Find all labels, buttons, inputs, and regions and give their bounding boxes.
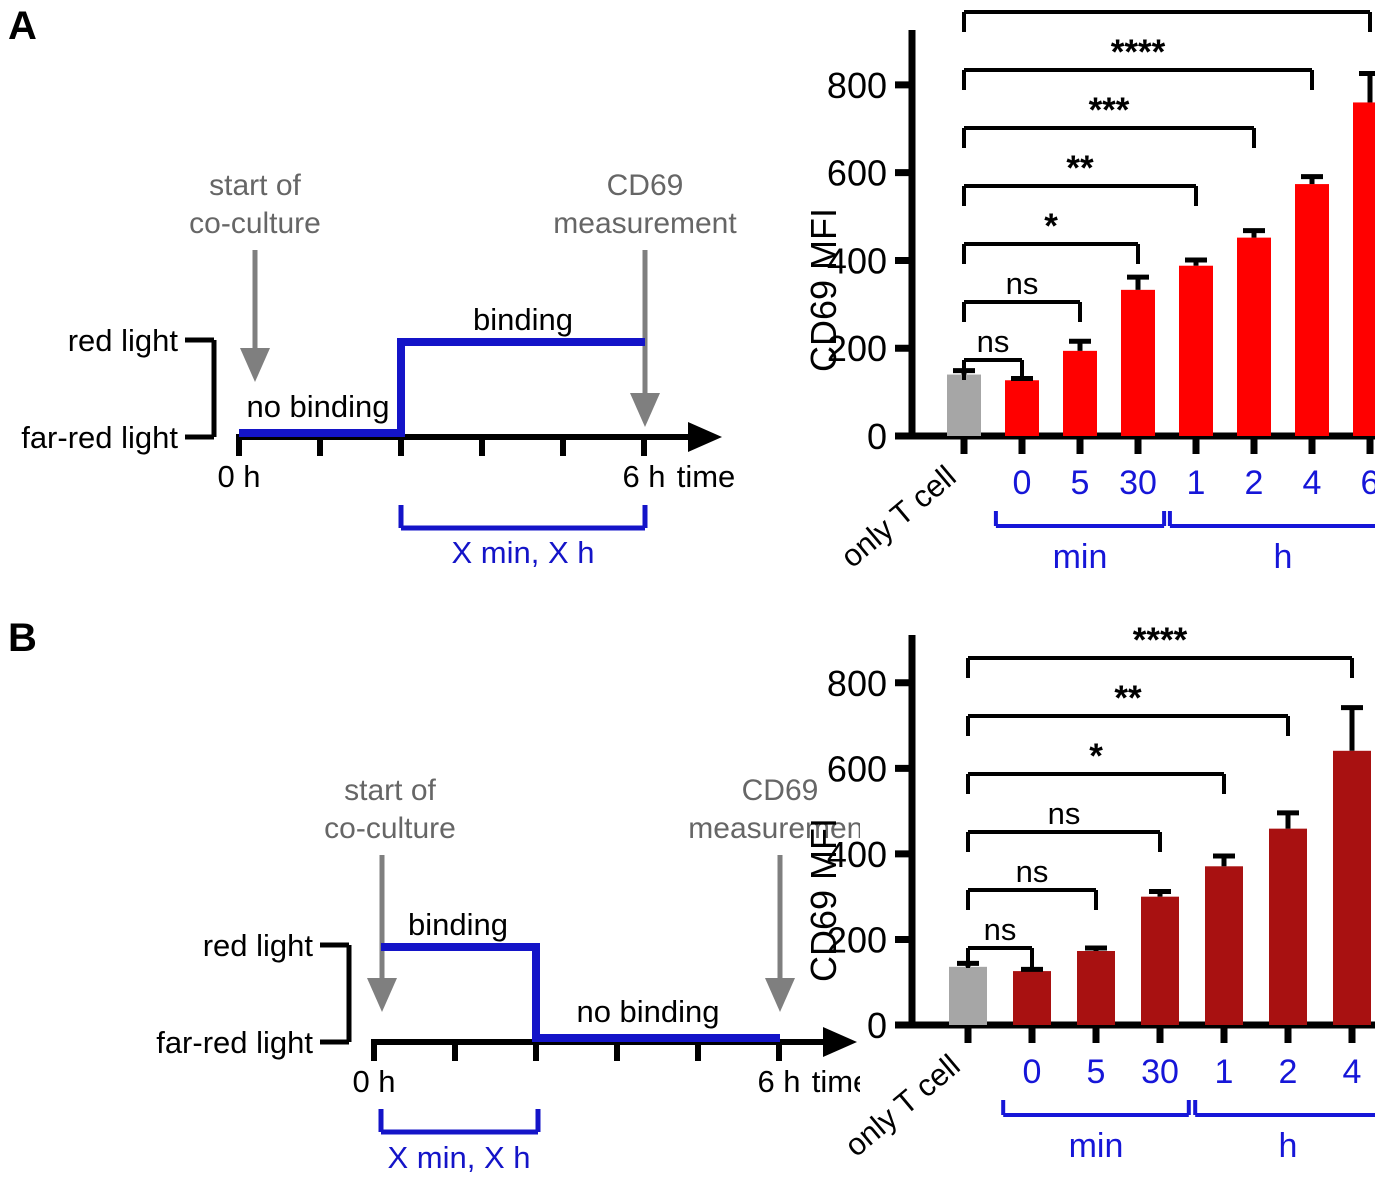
significance-label: **** (1111, 33, 1166, 72)
start-arrow-icon (367, 855, 397, 1012)
time-end-label: 6 h (757, 1064, 800, 1099)
x-category-label: 4 (1343, 1053, 1362, 1091)
x-category-label: 2 (1279, 1053, 1298, 1091)
significance-label: ns (1006, 266, 1039, 301)
start-annotation-line2: co-culture (189, 207, 321, 240)
x-category-label: 30 (1141, 1053, 1179, 1091)
duration-bracket (401, 505, 645, 528)
y-tick-label: 800 (827, 663, 887, 704)
light-state-bracket (320, 945, 349, 1042)
x-category-label: 1 (1187, 464, 1206, 502)
x-category-label: 2 (1245, 464, 1264, 502)
significance-label: **** (1133, 621, 1188, 660)
significance-label: * (1089, 737, 1103, 776)
x-category-label: only T cell (838, 1048, 967, 1164)
time-end-label: 6 h (622, 459, 665, 494)
significance-label: * (1044, 207, 1058, 246)
end-annotation-line1: CD69 (607, 169, 684, 202)
significance-label: ** (1114, 679, 1142, 718)
bar (949, 967, 987, 1025)
end-annotation-line2: measurement (553, 207, 737, 240)
y-tick-label: 200 (827, 919, 887, 960)
bar (1237, 238, 1271, 436)
y-tick-label: 200 (827, 328, 887, 369)
binding-label: binding (408, 907, 508, 942)
bar (1333, 751, 1371, 1025)
far-red-light-label: far-red light (156, 1025, 313, 1060)
group-bracket-label: min (1053, 538, 1108, 576)
duration-bracket-label: X min, X h (388, 1140, 531, 1175)
start-annotation-line1: start of (344, 774, 436, 807)
x-category-label: 6 (1361, 464, 1375, 502)
time-start-label: 0 h (352, 1064, 395, 1099)
y-tick-label: 0 (867, 416, 887, 457)
duration-bracket (381, 1109, 538, 1132)
start-annotation-line2: co-culture (324, 812, 456, 845)
bar (1205, 866, 1243, 1025)
y-tick-label: 400 (827, 834, 887, 875)
panel-b-timeline-diagram: start of co-culture CD69 measurement red… (0, 600, 860, 1190)
bar (1063, 351, 1097, 436)
panel-a: A start of co-culture CD69 measurement (0, 0, 1375, 600)
significance-label: *** (1089, 91, 1130, 130)
bar (947, 375, 981, 436)
no-binding-label: no binding (246, 389, 389, 424)
y-tick-label: 600 (827, 748, 887, 789)
bar (1353, 102, 1375, 436)
time-axis-label: time (677, 459, 736, 494)
duration-bracket-label: X min, X h (452, 535, 595, 570)
x-category-label: 0 (1023, 1053, 1042, 1091)
red-light-label: red light (203, 928, 314, 963)
y-tick-label: 800 (827, 65, 887, 106)
group-bracket-label: h (1279, 1127, 1298, 1165)
binding-label: binding (473, 302, 573, 337)
panel-b: B start of co-culture CD69 measurement (0, 600, 1375, 1190)
x-category-label: 0 (1013, 464, 1032, 502)
significance-label: **** (1140, 0, 1195, 14)
y-tick-label: 600 (827, 153, 887, 194)
bar (1077, 951, 1115, 1025)
x-category-label: 1 (1215, 1053, 1234, 1091)
significance-label: ns (977, 324, 1010, 359)
start-arrow-icon (240, 250, 270, 382)
x-category-label: 5 (1087, 1053, 1106, 1091)
timeline-svg-a: start of co-culture CD69 measurement (0, 0, 860, 600)
x-category-label: 5 (1071, 464, 1090, 502)
panel-a-timeline-diagram: start of co-culture CD69 measurement (0, 0, 860, 600)
bar (1013, 971, 1051, 1025)
time-start-label: 0 h (217, 459, 260, 494)
bar-chart-svg-b: CD69 MFI 0200400600800only T cell0530124… (800, 600, 1375, 1190)
bar-chart-svg-a: CD69 MFI 0200400600800only T cell0530124… (800, 0, 1375, 600)
x-category-label: 4 (1303, 464, 1322, 502)
significance-label: ns (1016, 854, 1049, 889)
no-binding-label: no binding (576, 994, 719, 1029)
y-tick-label: 400 (827, 240, 887, 281)
bar (1121, 290, 1155, 436)
x-category-label: only T cell (834, 459, 963, 575)
significance-label: ns (984, 912, 1017, 947)
significance-label: ** (1066, 149, 1094, 188)
x-category-label: 30 (1119, 464, 1157, 502)
panel-b-bar-chart: CD69 MFI 0200400600800only T cell0530124… (800, 600, 1375, 1190)
bar (1179, 266, 1213, 436)
timeline-svg-b: start of co-culture CD69 measurement red… (0, 600, 860, 1190)
bar (1269, 829, 1307, 1025)
significance-label: ns (1048, 796, 1081, 831)
red-light-label: red light (68, 323, 179, 358)
time-axis (371, 1027, 857, 1061)
start-annotation-line1: start of (209, 169, 301, 202)
bar (1005, 380, 1039, 436)
bar (1295, 184, 1329, 436)
light-state-bracket (185, 340, 214, 437)
end-arrow-icon (765, 855, 795, 1012)
group-bracket-label: h (1274, 538, 1293, 576)
panel-a-bar-chart: CD69 MFI 0200400600800only T cell0530124… (800, 0, 1375, 600)
y-tick-label: 0 (867, 1005, 887, 1046)
time-axis (236, 422, 722, 456)
bar (1141, 897, 1179, 1025)
group-bracket-label: min (1069, 1127, 1124, 1165)
far-red-light-label: far-red light (21, 420, 178, 455)
